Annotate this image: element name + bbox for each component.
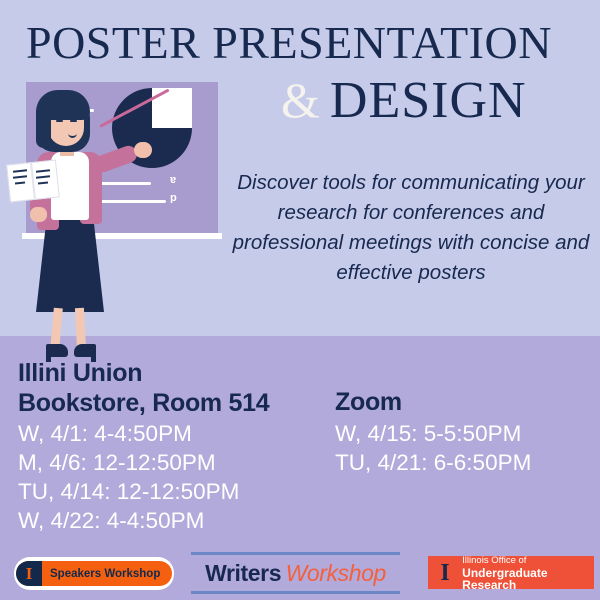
illinois-block-i-icon: I (434, 559, 456, 587)
session-item: TU, 4/14: 12-12:50PM (18, 477, 239, 506)
poster-description: Discover tools for communicating your re… (228, 168, 594, 288)
illustration-woman-presenting: a d (0, 70, 232, 340)
logo-speakers-workshop[interactable]: I Speakers Workshop (14, 557, 174, 590)
figure-eye (56, 120, 63, 122)
session-item: W, 4/1: 4-4:50PM (18, 419, 239, 448)
figure-eye (70, 120, 77, 122)
undergraduate-research-text: Illinois Office of Undergraduate Researc… (462, 555, 594, 591)
page-title-line-2: &DESIGN (281, 75, 527, 127)
location-a-heading: Illini Union Bookstore, Room 514 (18, 358, 269, 418)
session-item: TU, 4/21: 6-6:50PM (335, 448, 531, 477)
writers-workshop-word2: Workshop (286, 560, 386, 586)
location-b-heading: Zoom (335, 387, 402, 417)
location-a-heading-line1: Illini Union (18, 358, 269, 388)
figure-hand-right (134, 142, 152, 158)
figure-hair-side (36, 104, 51, 148)
page-title-line-1: POSTER PRESENTATION (26, 20, 552, 66)
session-item: W, 4/22: 4-4:50PM (18, 506, 239, 535)
undergraduate-research-line2: Undergraduate Research (462, 567, 594, 591)
undergraduate-research-line1: Illinois Office of (462, 555, 594, 567)
session-item: M, 4/6: 12-12:50PM (18, 448, 239, 477)
speakers-workshop-pill: I Speakers Workshop (16, 561, 172, 586)
speakers-workshop-label: Speakers Workshop (42, 568, 172, 580)
board-mark-icon: a (170, 174, 176, 186)
ampersand-glyph: & (281, 72, 330, 128)
board-mark-icon: d (170, 192, 177, 204)
logo-writers-workshop[interactable]: Writers Workshop (191, 552, 400, 594)
figure-skirt (36, 216, 104, 312)
location-b-sessions: W, 4/15: 5-5:50PM TU, 4/21: 6-6:50PM (335, 419, 531, 477)
session-item: W, 4/15: 5-5:50PM (335, 419, 531, 448)
logo-undergraduate-research[interactable]: I Illinois Office of Undergraduate Resea… (428, 556, 594, 589)
page-title-design: DESIGN (330, 72, 527, 129)
location-a-sessions: W, 4/1: 4-4:50PM M, 4/6: 12-12:50PM TU, … (18, 419, 239, 535)
illinois-block-i-icon: I (16, 561, 42, 586)
location-a-heading-line2: Bookstore, Room 514 (18, 388, 269, 418)
poster-canvas: POSTER PRESENTATION &DESIGN Discover too… (0, 0, 600, 600)
writers-workshop-word1: Writers (205, 560, 281, 586)
figure-hand-left (30, 207, 47, 222)
